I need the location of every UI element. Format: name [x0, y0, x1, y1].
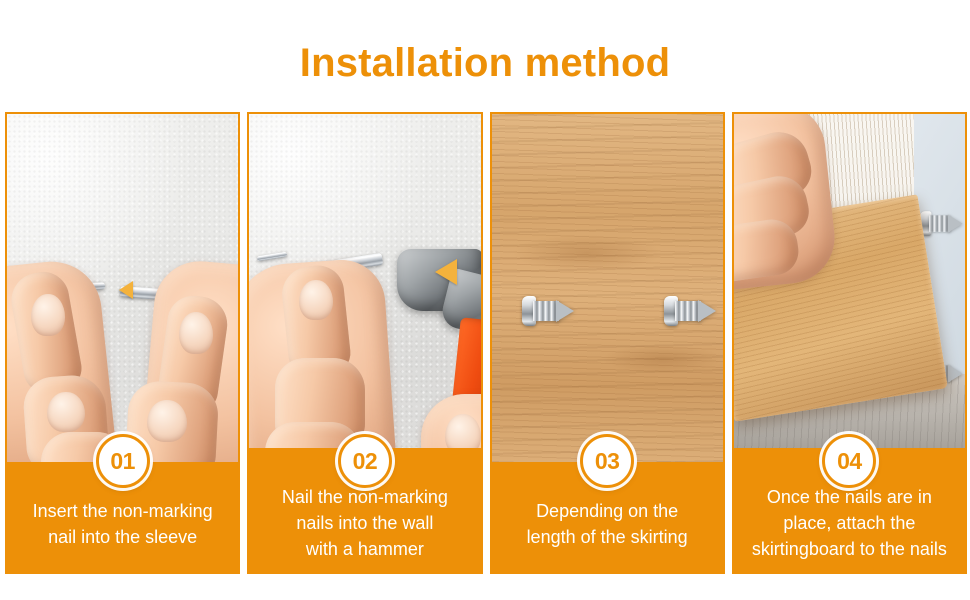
step-badge-1: 01 [96, 434, 150, 488]
page-title: Installation method [0, 40, 970, 86]
step-badge-2-number: 02 [353, 450, 378, 473]
nail-tip [698, 300, 716, 322]
step-badge-3: 03 [580, 434, 634, 488]
installation-method-infographic: Installation method [0, 0, 970, 600]
right-index-nail [147, 400, 187, 442]
step-badge-2: 02 [338, 434, 392, 488]
steps-row: 01 Insert the non-marking nail into the … [5, 112, 967, 574]
step-card-1: 01 Insert the non-marking nail into the … [5, 112, 240, 574]
hammer-grip-thumbnail [445, 414, 480, 448]
left-index-nail [47, 392, 85, 432]
step-card-2: 02 Nail the non-marking nails into the w… [247, 112, 482, 574]
step-2-photo [249, 114, 480, 448]
left-thumbnail [31, 294, 65, 336]
index-fingernail [299, 280, 333, 320]
step-4-photo [734, 114, 965, 448]
step-badge-4-number: 04 [837, 450, 862, 473]
wood-wall-background [492, 114, 723, 462]
step-card-3: 03 Depending on the length of the skirti… [490, 112, 725, 574]
nail-tip [948, 215, 963, 233]
step-badge-3-number: 03 [595, 450, 620, 473]
wood-grain-knot [512, 234, 662, 272]
step-badge-1-number: 01 [110, 450, 135, 473]
step-card-4: 04 Once the nails are in place, attach t… [732, 112, 967, 574]
wood-grain-knot [602, 344, 722, 374]
right-thumbnail [179, 312, 213, 354]
nail-tip [948, 365, 963, 383]
step-3-photo [492, 114, 723, 462]
step-1-photo [7, 114, 238, 462]
nail-tip [556, 300, 574, 322]
step-badge-4: 04 [822, 434, 876, 488]
insert-arrow-left-icon [119, 281, 133, 299]
hammer-strike-arrow-icon [435, 259, 457, 285]
